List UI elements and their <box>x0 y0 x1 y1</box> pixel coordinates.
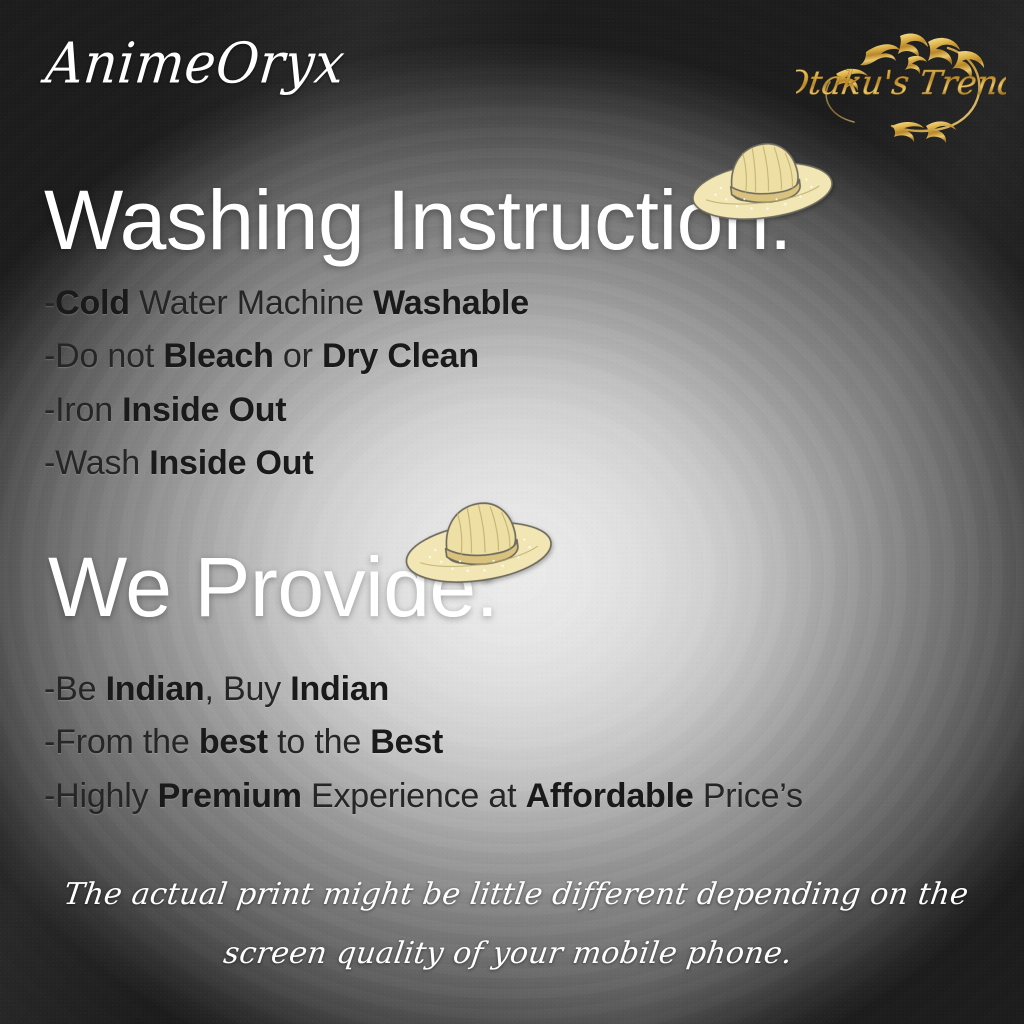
emphasis-text: Bleach <box>163 337 273 375</box>
emphasis-text: Indian <box>106 670 205 708</box>
plain-text: Experience at <box>302 777 526 815</box>
emphasis-text: Cold <box>55 284 130 322</box>
plain-text: Price’s <box>694 777 803 815</box>
print-disclaimer-text: The actual print might be little differe… <box>0 866 1024 983</box>
plain-text: Iron <box>55 391 122 429</box>
emphasis-text: best <box>199 723 268 761</box>
emphasis-text: Inside Out <box>122 391 286 429</box>
list-item-cold-water-machine-washable: -Cold Water Machine Washable <box>44 284 529 323</box>
emphasis-text: Indian <box>290 670 389 708</box>
logo-text: Otaku's Trend <box>796 63 1006 102</box>
list-item-highly-premium-affordable: -Highly Premium Experience at Affordable… <box>44 777 803 816</box>
list-item-from-the-best-to-the-best: -From the best to the Best <box>44 723 443 762</box>
plain-text: From the <box>55 723 199 761</box>
plain-text: Water Machine <box>130 284 373 322</box>
logo-ornament-bottom <box>892 121 956 143</box>
plain-text: or <box>274 337 322 375</box>
brand-wordmark: AnimeOryx <box>43 32 348 97</box>
list-item-wash-inside-out: -Wash Inside Out <box>44 444 313 483</box>
emphasis-text: Dry Clean <box>322 337 479 375</box>
plain-text: Highly <box>55 777 158 815</box>
list-item-be-indian-buy-indian: -Be Indian, Buy Indian <box>44 670 389 709</box>
plain-text: to the <box>268 723 370 761</box>
emphasis-text: Premium <box>158 777 302 815</box>
plain-text: Do not <box>55 337 163 375</box>
emphasis-text: Inside Out <box>149 444 313 482</box>
list-item-do-not-bleach-or-dry-clean: -Do not Bleach or Dry Clean <box>44 337 479 376</box>
emphasis-text: Washable <box>373 284 529 322</box>
list-item-iron-inside-out: -Iron Inside Out <box>44 391 286 430</box>
heading-washing-instruction: Washing Instruction: <box>44 178 792 262</box>
emphasis-text: Affordable <box>526 777 694 815</box>
straw-hat-icon-top <box>681 122 842 236</box>
poster-canvas: AnimeOryx <box>0 0 1024 1024</box>
plain-text: Wash <box>55 444 149 482</box>
emphasis-text: Best <box>370 723 443 761</box>
plain-text: , Buy <box>204 670 290 708</box>
plain-text: Be <box>55 670 105 708</box>
